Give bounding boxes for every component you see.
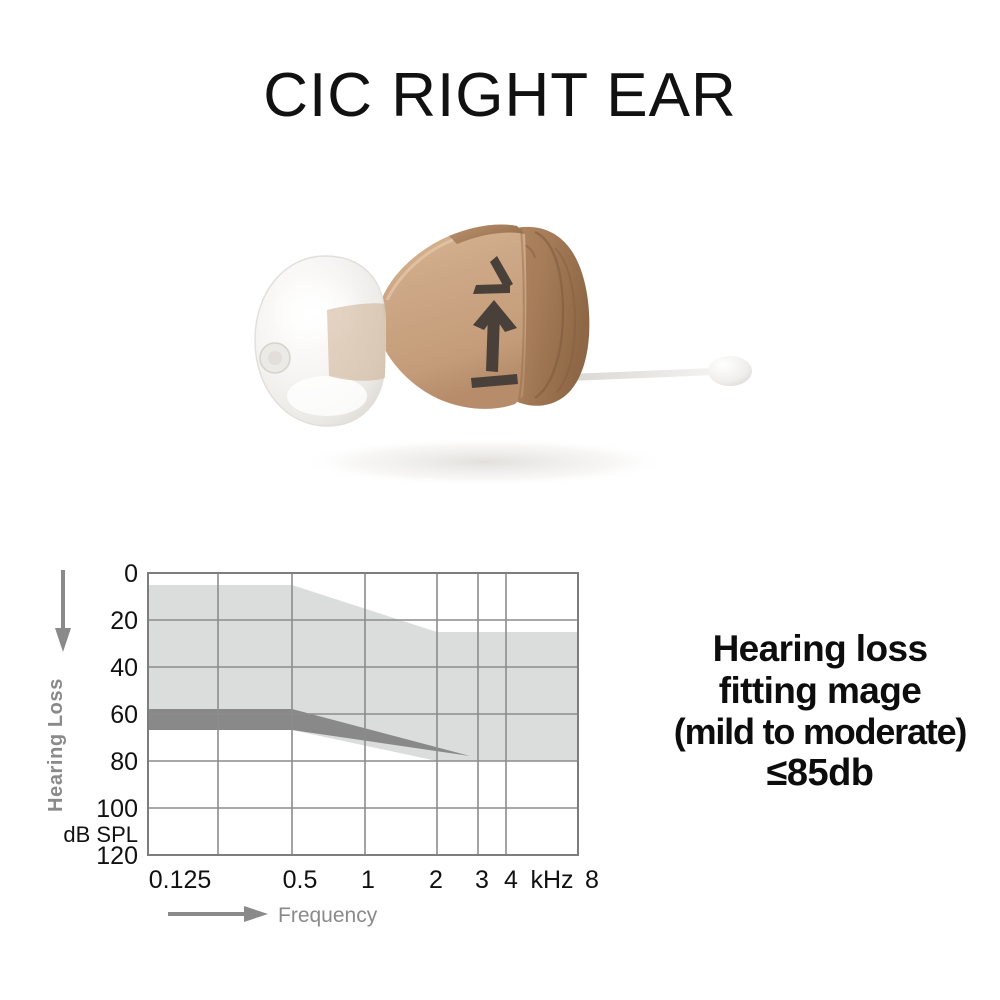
y-tick-60: 60 <box>110 701 138 729</box>
x-tick-0125: 0.125 <box>149 866 212 894</box>
x-tick-khz: kHz <box>530 866 573 894</box>
dome-highlight-2 <box>287 376 367 416</box>
caption-line-2: fitting mage <box>640 670 1000 712</box>
x-tick-4: 4 <box>504 866 518 894</box>
receiver-port-inner <box>268 351 282 365</box>
audiogram-svg: 0 20 40 60 80 100 120 dB SPL Hearing Los… <box>0 530 640 950</box>
y-tick-40: 40 <box>110 654 138 682</box>
cord-bulb-icon <box>708 356 752 386</box>
device-shadow <box>300 438 670 486</box>
x-axis-right-arrow-icon <box>168 906 268 922</box>
x-axis-title: Frequency <box>278 904 378 927</box>
y-axis-title: Hearing Loss <box>45 678 67 812</box>
audiogram-chart: 0 20 40 60 80 100 120 dB SPL Hearing Los… <box>0 530 640 950</box>
page-title: CIC RIGHT EAR <box>0 60 1000 131</box>
x-tick-05: 0.5 <box>283 866 318 894</box>
y-axis-unit-label: dB SPL <box>63 822 138 847</box>
x-tick-3: 3 <box>475 866 489 894</box>
caption-line-1: Hearing loss <box>640 628 1000 670</box>
x-tick-2: 2 <box>429 866 443 894</box>
hearing-aid-illustration <box>235 200 775 500</box>
y-tick-20: 20 <box>110 607 138 635</box>
fitting-caption: Hearing loss fitting mage (mild to moder… <box>640 628 1000 795</box>
x-tick-1: 1 <box>361 866 375 894</box>
y-tick-0: 0 <box>124 560 138 588</box>
x-axis-tick-labels: 0.125 0.5 1 2 3 4 kHz 8 <box>149 866 599 894</box>
page-root: CIC RIGHT EAR <box>0 0 1000 1000</box>
y-axis-down-arrow-icon <box>55 570 71 652</box>
caption-line-4: ≤85db <box>640 752 1000 795</box>
x-tick-8: 8 <box>585 866 599 894</box>
caption-line-3: (mild to moderate) <box>640 712 1000 753</box>
y-tick-80: 80 <box>110 748 138 776</box>
hearing-aid-svg <box>235 200 775 500</box>
y-tick-100: 100 <box>96 795 138 823</box>
dome-seethrough-shell <box>327 303 385 381</box>
